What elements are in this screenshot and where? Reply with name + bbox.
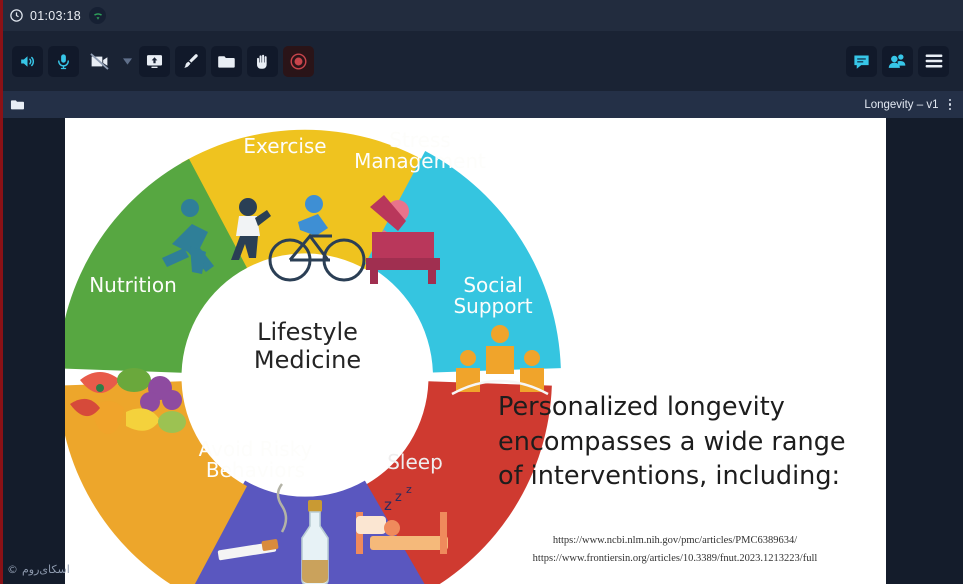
toolbar-right-group bbox=[846, 46, 949, 77]
copyright-symbol: © bbox=[7, 563, 18, 576]
wheel-hub bbox=[187, 259, 423, 495]
participants-button[interactable] bbox=[882, 46, 913, 77]
slide-canvas[interactable]: z z z bbox=[65, 118, 886, 584]
menu-button[interactable] bbox=[918, 46, 949, 77]
raise-hand-button[interactable] bbox=[247, 46, 278, 77]
folder-icon bbox=[10, 97, 25, 112]
document-bar-right: Longevity – v1 bbox=[864, 96, 955, 114]
speaker-icon bbox=[18, 52, 37, 71]
brush-icon bbox=[181, 52, 200, 71]
files-button[interactable] bbox=[211, 46, 242, 77]
presentation-stage: z z z bbox=[0, 118, 963, 584]
record-button[interactable] bbox=[283, 46, 314, 77]
camera-button[interactable] bbox=[84, 46, 115, 77]
screen-share-icon bbox=[145, 52, 164, 71]
document-folder-button[interactable] bbox=[10, 97, 25, 112]
kebab-menu-icon[interactable] bbox=[945, 96, 956, 114]
meeting-toolbar bbox=[0, 31, 963, 91]
skyroom-watermark: اسکای‌روم © bbox=[7, 563, 70, 576]
watermark-text: اسکای‌روم bbox=[22, 563, 70, 576]
microphone-icon bbox=[54, 52, 73, 71]
chat-icon bbox=[852, 52, 871, 71]
svg-text:z: z bbox=[395, 490, 402, 505]
folder-icon bbox=[217, 52, 236, 71]
wheel-center-title: Lifestyle Medicine bbox=[200, 318, 415, 375]
toolbar-left-group bbox=[12, 46, 314, 77]
left-edge-accent bbox=[0, 0, 3, 584]
record-icon bbox=[289, 52, 308, 71]
session-timer: 01:03:18 bbox=[9, 7, 106, 24]
share-screen-button[interactable] bbox=[139, 46, 170, 77]
citation-1: https://www.ncbi.nlm.nih.gov/pmc/article… bbox=[465, 532, 885, 550]
chat-button[interactable] bbox=[846, 46, 877, 77]
slide-citations: https://www.ncbi.nlm.nih.gov/pmc/article… bbox=[465, 532, 885, 569]
camera-options-caret[interactable] bbox=[120, 47, 134, 75]
svg-text:z: z bbox=[384, 496, 392, 514]
microphone-button[interactable] bbox=[48, 46, 79, 77]
timer-text: 01:03:18 bbox=[30, 9, 81, 23]
raise-hand-icon bbox=[253, 52, 272, 71]
participants-icon bbox=[888, 51, 908, 71]
svg-text:z: z bbox=[406, 483, 412, 496]
meeting-window: 01:03:18 bbox=[0, 0, 963, 584]
document-title: Longevity – v1 bbox=[864, 99, 938, 111]
chevron-down-icon bbox=[123, 58, 132, 65]
document-bar: Longevity – v1 bbox=[0, 91, 963, 118]
citation-2: https://www.frontiersin.org/articles/10.… bbox=[465, 550, 885, 568]
hamburger-menu-icon bbox=[924, 53, 944, 69]
wifi-signal-icon bbox=[89, 7, 106, 24]
camera-off-icon bbox=[89, 51, 110, 72]
slide-body-text: Personalized longevity encompasses a wid… bbox=[498, 390, 876, 494]
speaker-button[interactable] bbox=[12, 46, 43, 77]
clock-icon bbox=[9, 8, 24, 23]
lifestyle-medicine-wheel: z z z bbox=[65, 118, 570, 584]
status-bar: 01:03:18 bbox=[0, 0, 963, 31]
whiteboard-button[interactable] bbox=[175, 46, 206, 77]
